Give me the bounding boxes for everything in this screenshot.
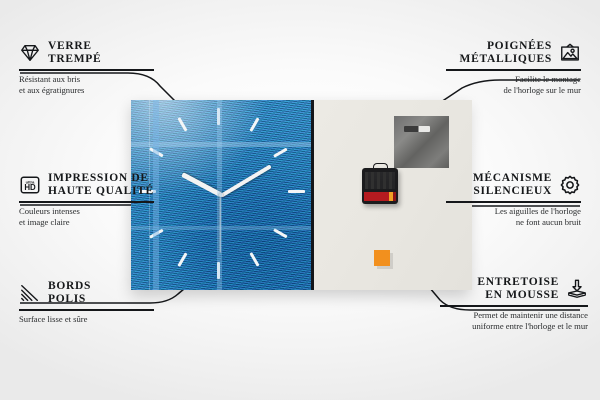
callout-header: ENTRETOISE EN MOUSSE: [440, 276, 588, 302]
clock-mechanism: [362, 168, 398, 204]
tick-mark: [217, 108, 220, 125]
callout-title-line1: POIGNÉES: [460, 40, 552, 53]
callout-rule: [446, 69, 581, 71]
second-hand: [219, 195, 220, 253]
clock-face: [131, 100, 311, 290]
callout-subtitle-line1: Surface lisse et sûre: [19, 314, 154, 325]
callout-subtitle-line2: uniforme entre l'horloge et le mur: [440, 321, 588, 332]
callout-title-line1: VERRE: [48, 40, 101, 53]
tick-mark: [249, 252, 259, 266]
arrow-onto-foam-icon: [566, 278, 588, 300]
callout-rule: [440, 305, 588, 307]
callout-subtitle-line1: Couleurs intenses: [19, 206, 154, 217]
callout-title-line1: MÉCANISME: [473, 172, 552, 185]
callout-bords-polis: BORDS POLIS Surface lisse et sûre: [19, 280, 154, 325]
callout-verre-trempe: VERRE TREMPÉ Résistant aux bris et aux é…: [19, 40, 154, 96]
callout-title-line2: MÉTALLIQUES: [460, 53, 552, 66]
callout-rule: [19, 201, 154, 203]
callout-rule: [446, 201, 581, 203]
tick-mark: [249, 117, 259, 131]
callout-title: POIGNÉES MÉTALLIQUES: [460, 40, 552, 66]
tick-mark: [149, 229, 163, 239]
callout-subtitle-line1: Facilite le montage: [446, 74, 581, 85]
callout-impression-haute-qualite: ultra HD IMPRESSION DE HAUTE QUALITÉ Cou…: [19, 172, 154, 228]
callout-header: ultra HD IMPRESSION DE HAUTE QUALITÉ: [19, 172, 154, 198]
callout-rule: [19, 69, 154, 71]
mechanism-body: [365, 172, 395, 189]
tick-mark: [177, 252, 187, 266]
callout-title: ENTRETOISE EN MOUSSE: [477, 276, 559, 302]
tick-mark: [273, 148, 287, 158]
callout-title: VERRE TREMPÉ: [48, 40, 101, 66]
tick-mark: [177, 117, 187, 131]
callout-rule: [19, 309, 154, 311]
ultra-hd-icon-large-text: HD: [24, 183, 36, 192]
callout-mecanisme-silencieux: MÉCANISME SILENCIEUX Les aiguilles de l'…: [446, 172, 581, 228]
ultra-hd-icon: ultra HD: [19, 174, 41, 196]
callout-subtitle-line1: Permet de maintenir une distance: [440, 310, 588, 321]
callout-title-line1: BORDS: [48, 280, 91, 293]
callout-entretoise-en-mousse: ENTRETOISE EN MOUSSE Permet de maintenir…: [440, 276, 588, 332]
callout-subtitle-line2: et aux égratignures: [19, 85, 154, 96]
callout-subtitle-line2: de l'horloge sur le mur: [446, 85, 581, 96]
hanger-plate: [394, 116, 449, 168]
callout-header: BORDS POLIS: [19, 280, 154, 306]
diamond-icon: [19, 42, 41, 64]
infographic-canvas: VERRE TREMPÉ Résistant aux bris et aux é…: [0, 0, 600, 400]
tick-mark: [149, 148, 163, 158]
callout-title: BORDS POLIS: [48, 280, 91, 306]
callout-header: MÉCANISME SILENCIEUX: [446, 172, 581, 198]
picture-frame-hanger-icon: [559, 42, 581, 64]
callout-title: IMPRESSION DE HAUTE QUALITÉ: [48, 172, 154, 198]
callout-header: POIGNÉES MÉTALLIQUES: [446, 40, 581, 66]
callout-subtitle-line1: Résistant aux bris: [19, 74, 154, 85]
foam-spacer: [374, 250, 390, 266]
callout-title-line2: EN MOUSSE: [477, 289, 559, 302]
callout-title-line1: IMPRESSION DE: [48, 172, 154, 185]
callout-title-line2: TREMPÉ: [48, 53, 101, 66]
callout-title-line2: SILENCIEUX: [473, 185, 552, 198]
callout-title-line2: POLIS: [48, 293, 91, 306]
polished-edge-icon: [19, 282, 41, 304]
callout-title: MÉCANISME SILENCIEUX: [473, 172, 552, 198]
mechanism-label: [364, 192, 396, 201]
gear-icon: [559, 174, 581, 196]
callout-title-line2: HAUTE QUALITÉ: [48, 185, 154, 198]
minute-hand: [220, 164, 272, 197]
mechanism-hook: [373, 163, 388, 170]
hour-hand: [181, 173, 222, 198]
product-photo: [131, 100, 469, 290]
tick-mark: [217, 262, 220, 279]
tick-mark: [273, 229, 287, 239]
hanger-slot: [404, 126, 430, 132]
callout-header: VERRE TREMPÉ: [19, 40, 154, 66]
tick-mark: [288, 190, 305, 193]
callout-title-line1: ENTRETOISE: [477, 276, 559, 289]
callout-subtitle-line1: Les aiguilles de l'horloge: [446, 206, 581, 217]
callout-poignees-metalliques: POIGNÉES MÉTALLIQUES Facilite le montage…: [446, 40, 581, 96]
callout-subtitle-line2: ne font aucun bruit: [446, 217, 581, 228]
callout-subtitle-line2: et image claire: [19, 217, 154, 228]
hand-pin: [219, 193, 223, 197]
